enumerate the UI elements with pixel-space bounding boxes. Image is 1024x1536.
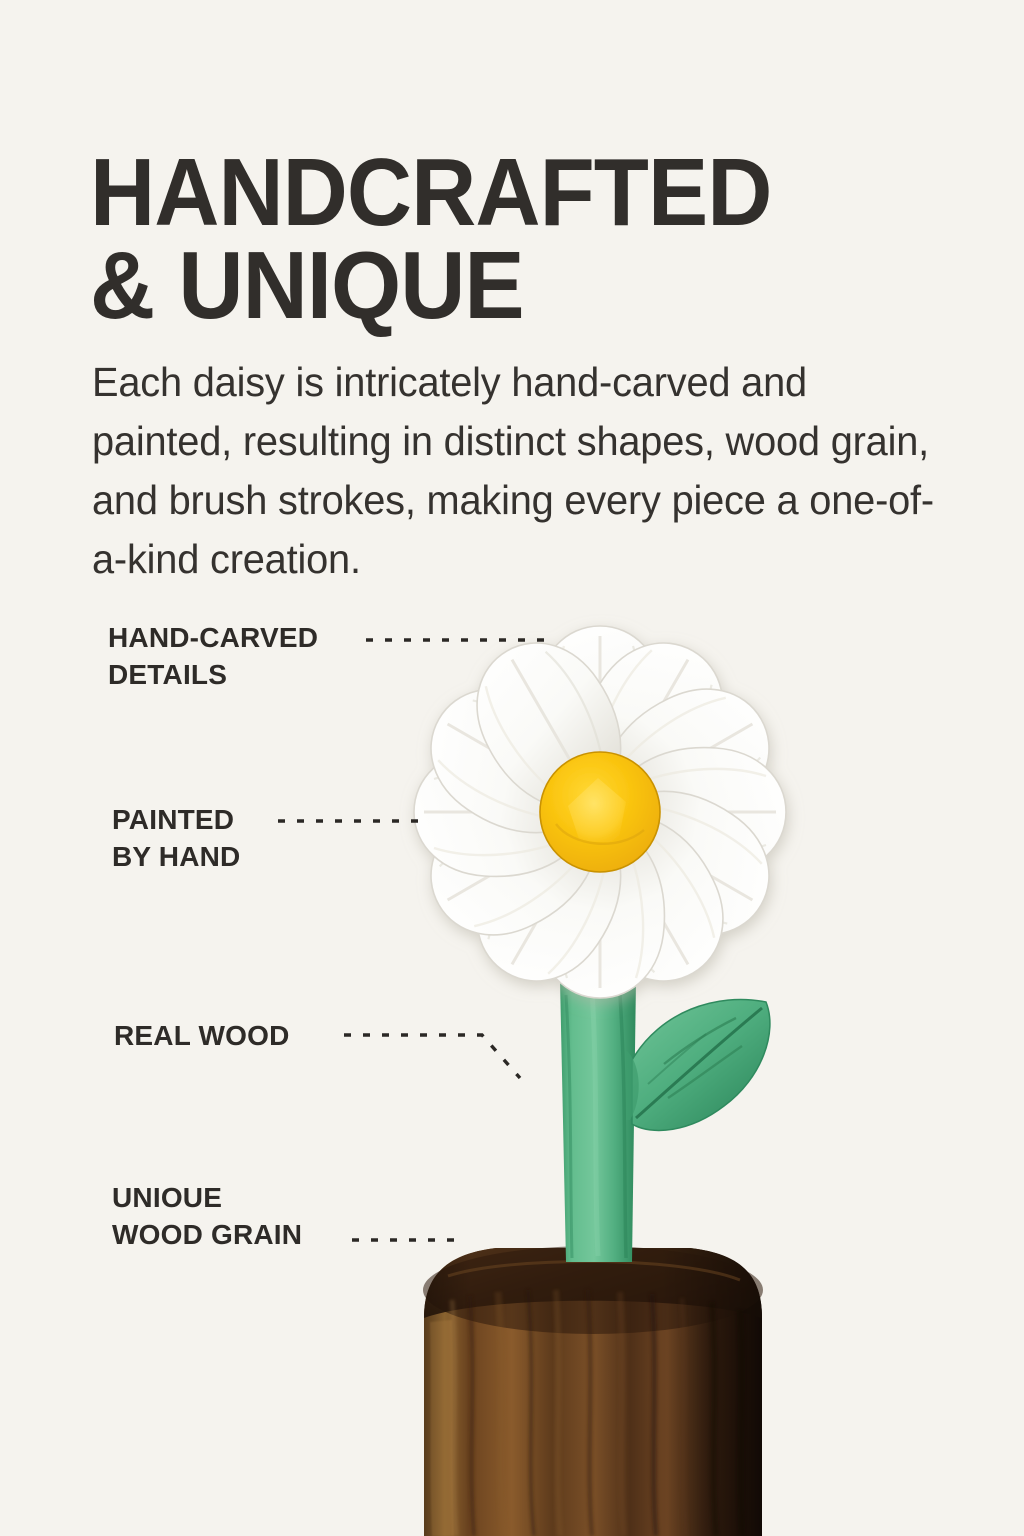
flower-center bbox=[540, 752, 660, 872]
callout-label-painted-by-hand: PAINTED BY HAND bbox=[112, 802, 240, 876]
flower-graphic bbox=[407, 619, 794, 1006]
callout-label-unique-wood-grain: UNIOUE WOOD GRAIN bbox=[112, 1180, 302, 1254]
wood-base-graphic bbox=[423, 1246, 763, 1536]
stem-graphic bbox=[560, 980, 636, 1262]
description-paragraph: Each daisy is intricately hand-carved an… bbox=[92, 353, 934, 589]
leaf-graphic bbox=[626, 999, 770, 1130]
page-title: HANDCRAFTED & UNIQUE bbox=[90, 146, 898, 332]
callout-label-real-wood: REAL WOOD bbox=[114, 1018, 290, 1055]
poster-canvas: HANDCRAFTED & UNIQUE Each daisy is intri… bbox=[0, 0, 1024, 1536]
callout-label-hand-carved-details: HAND-CARVED DETAILS bbox=[108, 620, 318, 694]
